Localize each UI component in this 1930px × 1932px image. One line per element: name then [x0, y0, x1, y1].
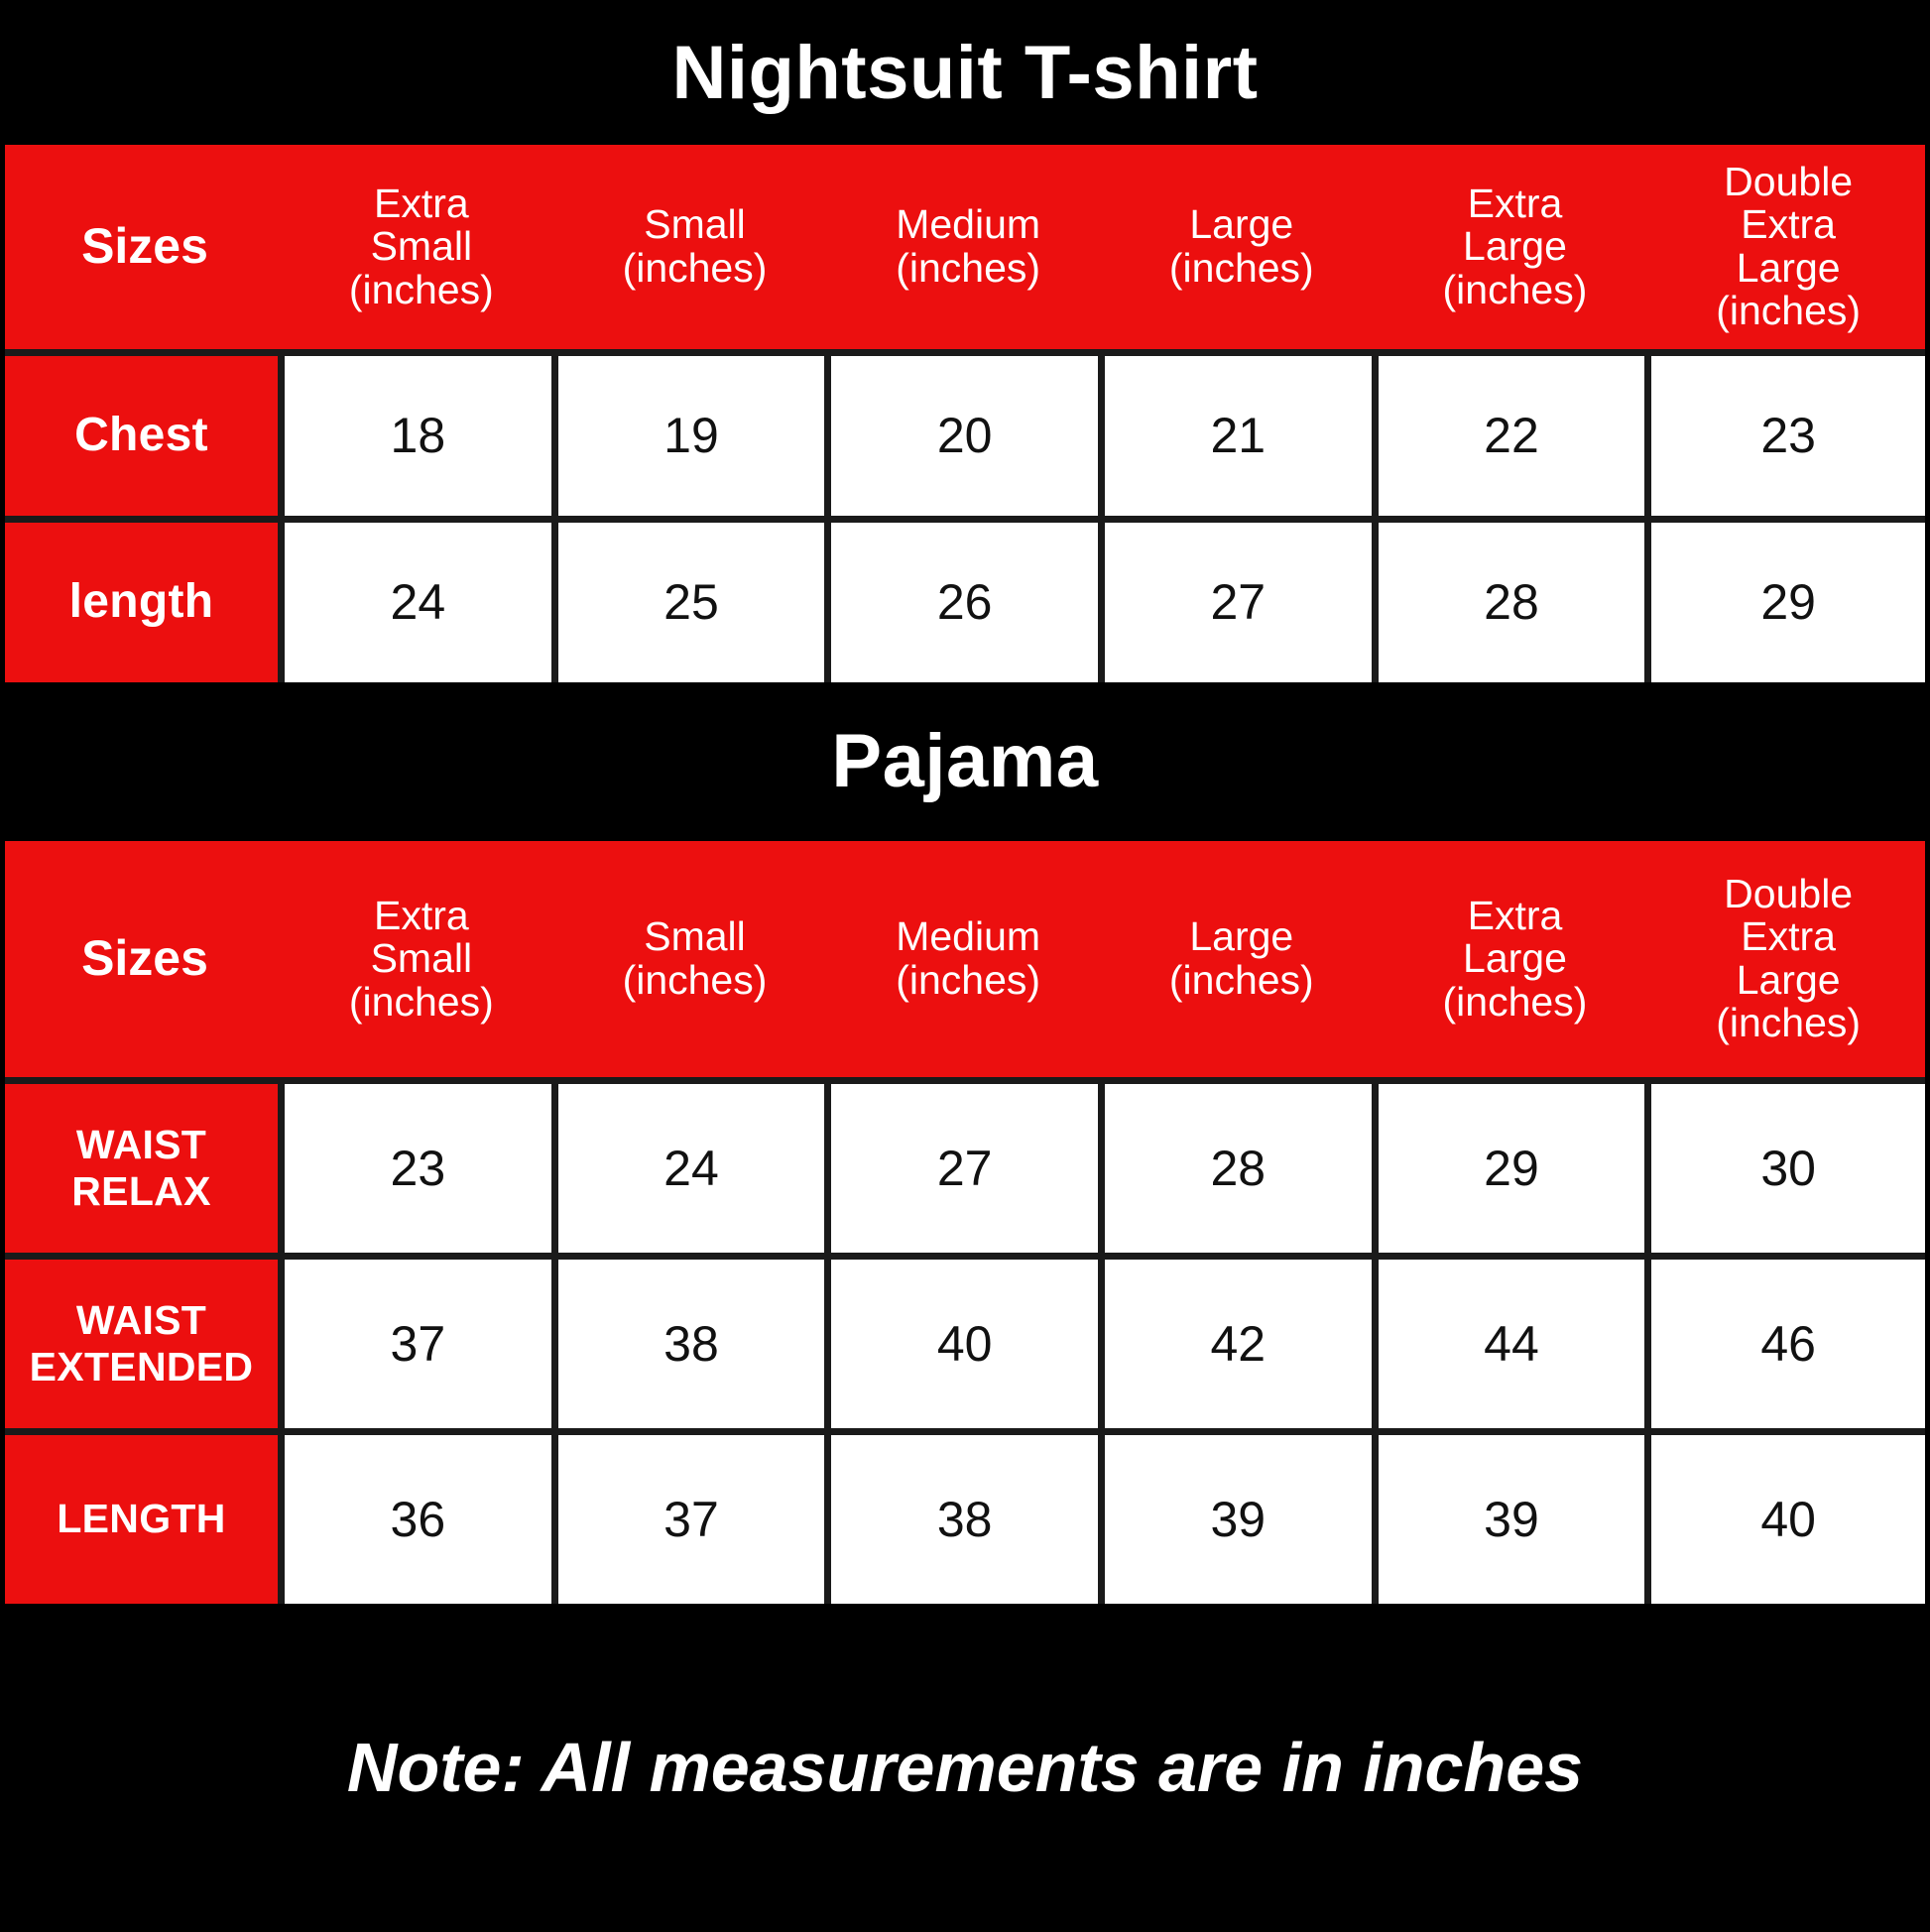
table-row: WAISTEXTENDED 37 38 40 42 44 46: [5, 1253, 1925, 1428]
cell-chest-extra-small: 18: [285, 349, 558, 516]
column-header-sizes: Sizes: [5, 841, 285, 1077]
cell-chest-extra-large: 22: [1379, 349, 1652, 516]
pajama-size-table: Sizes ExtraSmall(inches) Small(inches) M…: [5, 841, 1925, 1604]
cell-length-double-extra-large: 40: [1651, 1428, 1925, 1604]
size-chart-sheet: Nightsuit T-shirt Sizes ExtraSmall(inche…: [0, 0, 1930, 1932]
table-row: length 24 25 26 27 28 29: [5, 516, 1925, 682]
section-title-pajama: Pajama: [0, 682, 1930, 841]
cell-waist-relax-small: 24: [558, 1077, 832, 1253]
cell-waist-extended-extra-large: 44: [1379, 1253, 1652, 1428]
cell-waist-relax-large: 28: [1105, 1077, 1379, 1253]
column-header-double-extra-large: DoubleExtraLarge(inches): [1651, 145, 1925, 349]
cell-length-extra-small: 24: [285, 516, 558, 682]
table-row: Chest 18 19 20 21 22 23: [5, 349, 1925, 516]
column-header-extra-small: ExtraSmall(inches): [285, 841, 558, 1077]
column-header-small: Small(inches): [558, 145, 832, 349]
column-header-extra-small: ExtraSmall(inches): [285, 145, 558, 349]
cell-length-extra-large: 39: [1379, 1428, 1652, 1604]
cell-waist-extended-double-extra-large: 46: [1651, 1253, 1925, 1428]
column-header-large: Large(inches): [1105, 841, 1379, 1077]
cell-waist-relax-extra-small: 23: [285, 1077, 558, 1253]
column-header-sizes: Sizes: [5, 145, 285, 349]
cell-waist-relax-medium: 27: [831, 1077, 1105, 1253]
cell-waist-extended-small: 38: [558, 1253, 832, 1428]
cell-length-extra-large: 28: [1379, 516, 1652, 682]
cell-length-small: 37: [558, 1428, 832, 1604]
column-header-medium: Medium(inches): [831, 145, 1105, 349]
cell-length-large: 27: [1105, 516, 1379, 682]
cell-chest-medium: 20: [831, 349, 1105, 516]
column-header-double-extra-large: DoubleExtraLarge(inches): [1651, 841, 1925, 1077]
cell-length-small: 25: [558, 516, 832, 682]
cell-length-extra-small: 36: [285, 1428, 558, 1604]
nightsuit-tshirt-size-table: Sizes ExtraSmall(inches) Small(inches) M…: [5, 145, 1925, 682]
cell-chest-small: 19: [558, 349, 832, 516]
column-header-extra-large: ExtraLarge(inches): [1379, 841, 1652, 1077]
table-header-row: Sizes ExtraSmall(inches) Small(inches) M…: [5, 145, 1925, 349]
table-header-row: Sizes ExtraSmall(inches) Small(inches) M…: [5, 841, 1925, 1077]
row-label-waist-extended: WAISTEXTENDED: [5, 1253, 285, 1428]
table-row: WAISTRELAX 23 24 27 28 29 30: [5, 1077, 1925, 1253]
cell-chest-large: 21: [1105, 349, 1379, 516]
cell-length-medium: 38: [831, 1428, 1105, 1604]
cell-length-double-extra-large: 29: [1651, 516, 1925, 682]
cell-length-large: 39: [1105, 1428, 1379, 1604]
cell-waist-relax-double-extra-large: 30: [1651, 1077, 1925, 1253]
cell-waist-extended-extra-small: 37: [285, 1253, 558, 1428]
row-label-waist-relax: WAISTRELAX: [5, 1077, 285, 1253]
column-header-medium: Medium(inches): [831, 841, 1105, 1077]
nightsuit-tshirt-table-block: Sizes ExtraSmall(inches) Small(inches) M…: [0, 145, 1930, 682]
row-label-chest: Chest: [5, 349, 285, 516]
row-label-length: LENGTH: [5, 1428, 285, 1604]
column-header-extra-large: ExtraLarge(inches): [1379, 145, 1652, 349]
cell-waist-extended-large: 42: [1105, 1253, 1379, 1428]
footer-note: Note: All measurements are in inches: [0, 1604, 1930, 1932]
section-title-nightsuit-tshirt: Nightsuit T-shirt: [0, 0, 1930, 145]
cell-waist-relax-extra-large: 29: [1379, 1077, 1652, 1253]
cell-length-medium: 26: [831, 516, 1105, 682]
row-label-length: length: [5, 516, 285, 682]
cell-chest-double-extra-large: 23: [1651, 349, 1925, 516]
table-row: LENGTH 36 37 38 39 39 40: [5, 1428, 1925, 1604]
cell-waist-extended-medium: 40: [831, 1253, 1105, 1428]
column-header-large: Large(inches): [1105, 145, 1379, 349]
pajama-table-block: Sizes ExtraSmall(inches) Small(inches) M…: [0, 841, 1930, 1604]
column-header-small: Small(inches): [558, 841, 832, 1077]
